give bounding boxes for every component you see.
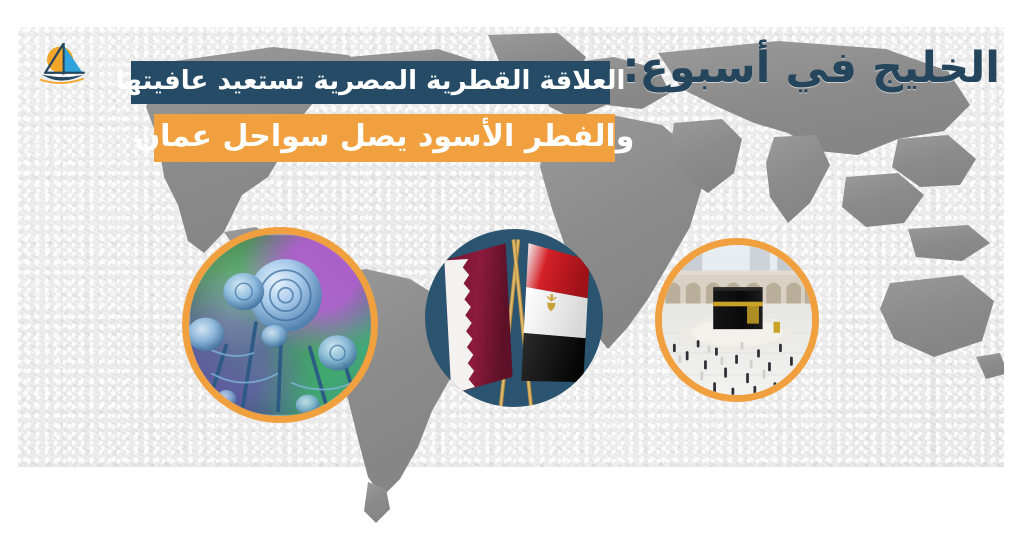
fungus-spores-illustration: [189, 234, 371, 416]
flags-illustration: [425, 229, 603, 407]
headline-band-navy: العلاقة القطرية المصرية تستعيد عافيتها: [131, 61, 610, 104]
photo-circle-black-fungus: [182, 227, 378, 423]
poster-canvas: الخليج في أسبوع: العلاقة القطرية المصرية…: [0, 0, 1024, 558]
page-title: الخليج في أسبوع:: [622, 46, 1000, 91]
photo-circle-kaaba-grand-mosque: [655, 238, 819, 402]
headline-band-orange: والفطر الأسود يصل سواحل عمان: [154, 114, 615, 162]
headline-band-navy-text: العلاقة القطرية المصرية تستعيد عافيتها: [116, 66, 626, 96]
photo-circle-qatar-egypt-flags: [425, 229, 603, 407]
headline-group: الخليج في أسبوع: العلاقة القطرية المصرية…: [0, 0, 1024, 180]
headline-band-orange-text: والفطر الأسود يصل سواحل عمان: [135, 119, 635, 154]
kaaba-illustration: [662, 245, 812, 395]
